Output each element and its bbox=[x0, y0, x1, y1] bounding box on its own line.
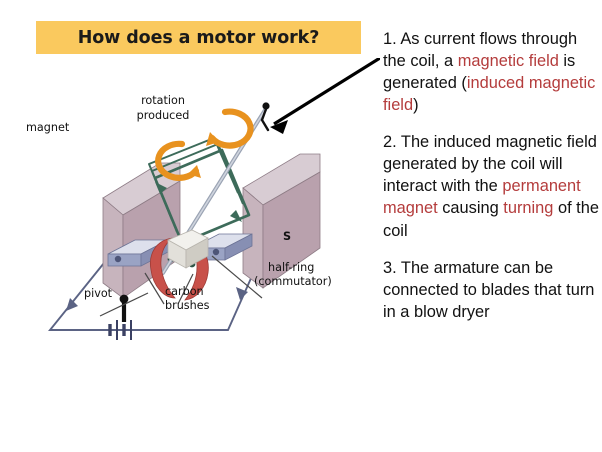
magnet-block-north: N bbox=[103, 163, 180, 298]
callout-pointer-arrow bbox=[270, 58, 380, 134]
explanation-paragraph-3: 3. The armature can be connected to blad… bbox=[383, 257, 599, 323]
diagram-label-half-ring-line1: half-ring bbox=[268, 261, 314, 274]
paragraph-1-segment-5: ) bbox=[413, 96, 418, 114]
explanation-paragraph-2: 2. The induced magnetic field generated … bbox=[383, 131, 599, 241]
diagram-label-carbon-brushes-line1: carbon bbox=[165, 285, 204, 298]
diagram-label-magnet: magnet bbox=[26, 121, 70, 134]
diagram-label-pivot: pivot bbox=[84, 287, 113, 300]
diagram-label-rotation-line2: produced bbox=[137, 109, 190, 122]
rotation-arrow-upper bbox=[212, 112, 251, 146]
magnet-pole-label-south: S bbox=[283, 230, 291, 243]
explanation-column: 1. As current flows through the coil, a … bbox=[383, 28, 599, 323]
paragraph-2-segment-4: turning bbox=[503, 199, 553, 217]
page-title-banner: How does a motor work? bbox=[36, 21, 361, 54]
diagram-label-rotation-line1: rotation bbox=[141, 94, 185, 107]
current-direction-arrow-left bbox=[66, 298, 78, 311]
explanation-paragraph-1: 1. As current flows through the coil, a … bbox=[383, 28, 599, 116]
diagram-label-carbon-brushes-line2: brushes bbox=[165, 299, 210, 312]
paragraph-3-segment-1: 3. The armature can be connected to blad… bbox=[383, 259, 594, 321]
paragraph-1-segment-2: magnetic field bbox=[458, 52, 559, 70]
page-title: How does a motor work? bbox=[78, 28, 320, 48]
paragraph-2-segment-3: causing bbox=[438, 199, 504, 217]
pivot-pin bbox=[120, 295, 129, 322]
shaft-top-hook bbox=[262, 102, 270, 130]
diagram-label-half-ring-line2: (commutator) bbox=[254, 275, 332, 288]
motor-diagram: N S bbox=[0, 58, 380, 452]
